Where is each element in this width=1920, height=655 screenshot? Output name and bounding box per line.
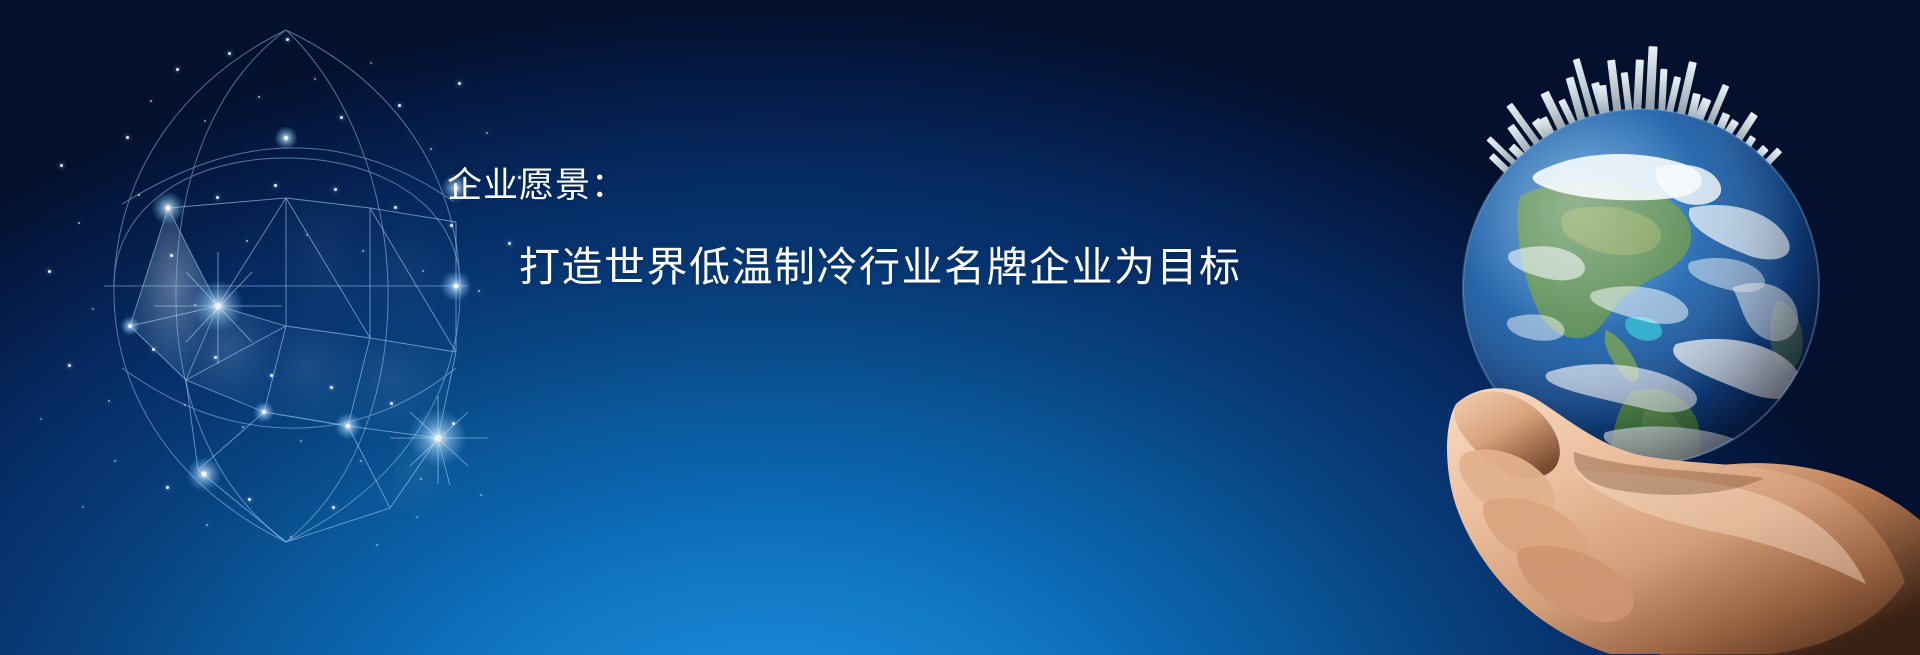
vision-statement: 打造世界低温制冷行业名牌企业为目标 <box>519 247 1242 288</box>
headline-block: 企业愿景： 打造世界低温制冷行业名牌企业为目标 <box>0 0 1920 655</box>
vision-label: 企业愿景： <box>447 169 627 204</box>
vision-banner: 企业愿景： 打造世界低温制冷行业名牌企业为目标 <box>0 0 1920 655</box>
